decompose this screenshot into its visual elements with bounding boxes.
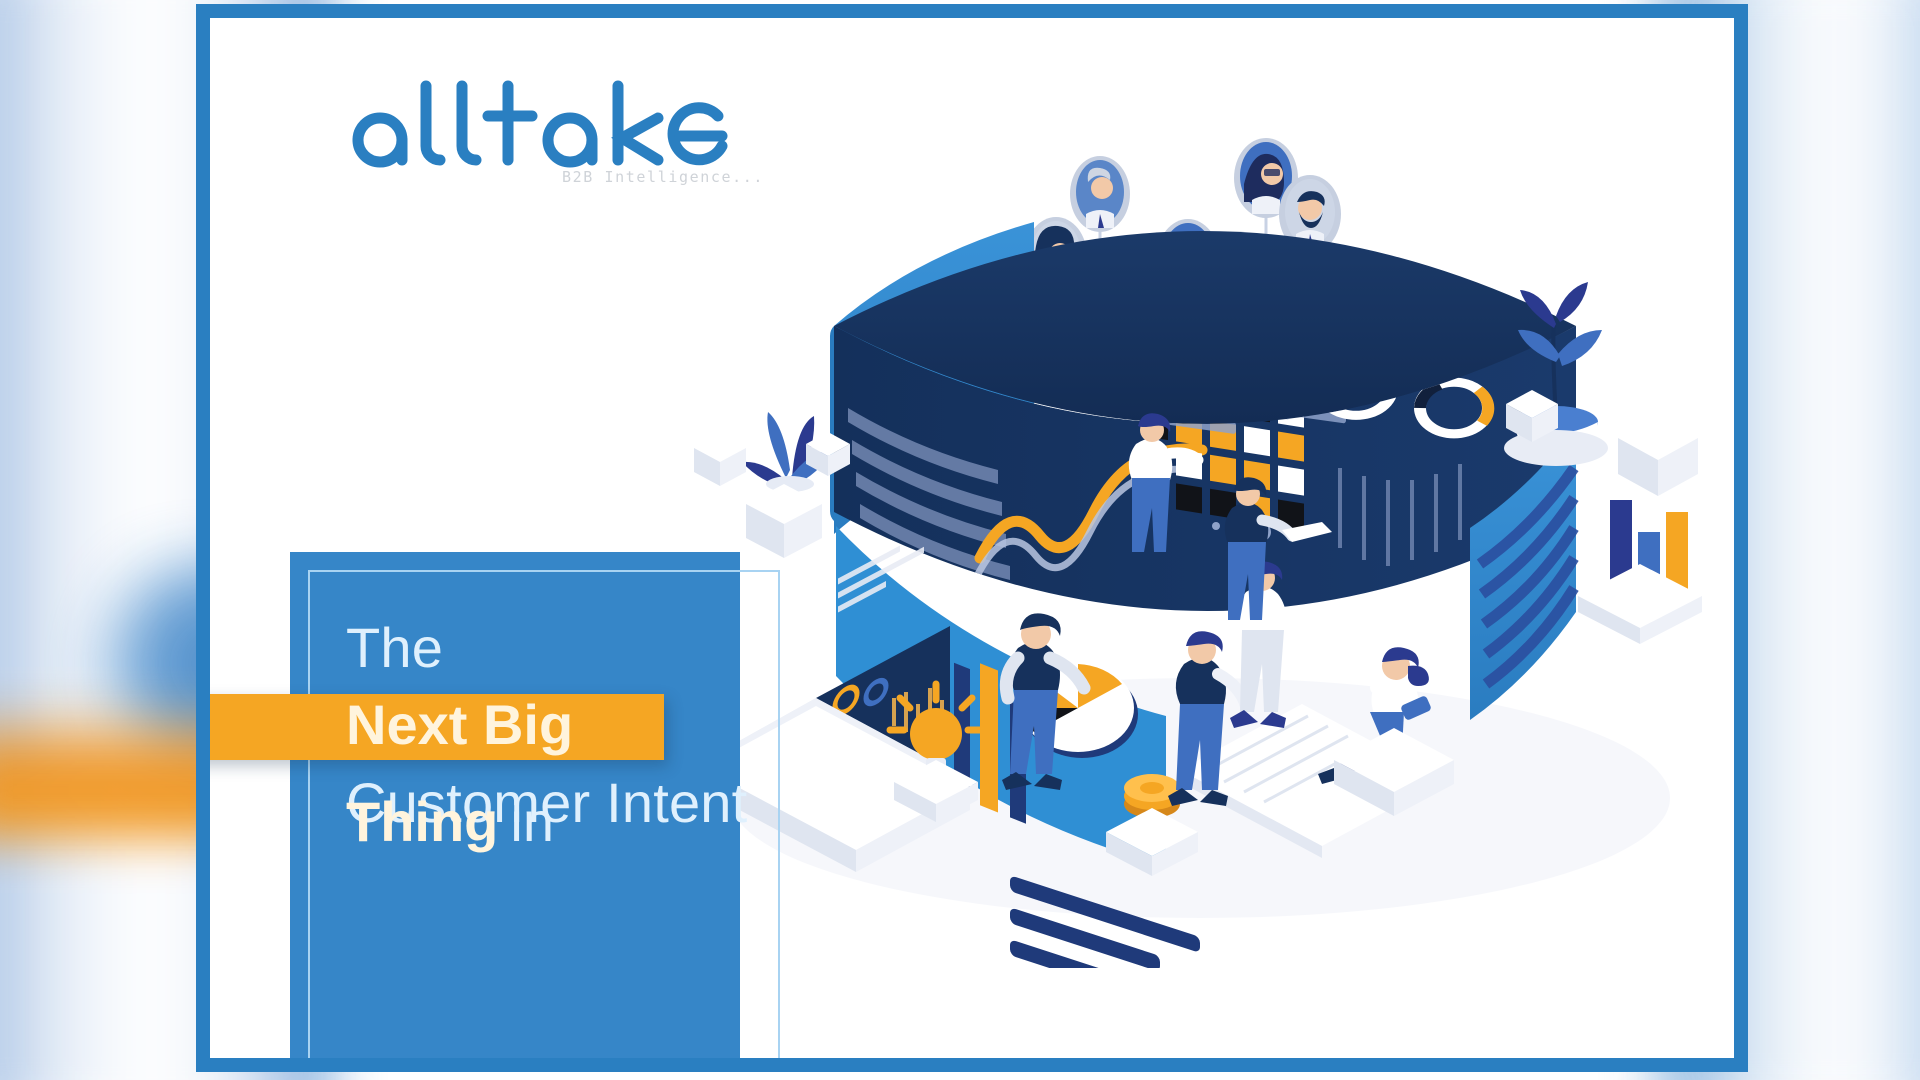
headline-line-2: Next Big Thingin	[346, 684, 766, 766]
content-card: B2B Intelligence...	[196, 4, 1748, 1072]
avatar-node-2	[1070, 156, 1130, 232]
headline-connector: in	[510, 790, 554, 853]
headline-line-1: The	[346, 618, 766, 678]
content-card-inner: B2B Intelligence...	[210, 18, 1734, 1058]
bar-stand	[1578, 500, 1702, 644]
alltake-wordmark-icon	[350, 80, 730, 176]
hero-illustration	[680, 108, 1734, 968]
headline-text: The Next Big Thingin Customer Intent	[346, 618, 766, 834]
isometric-analytics-scene-icon	[680, 108, 1734, 968]
headline-panel: The Next Big Thingin Customer Intent	[290, 552, 740, 1058]
slide-canvas: B2B Intelligence...	[0, 0, 1920, 1080]
